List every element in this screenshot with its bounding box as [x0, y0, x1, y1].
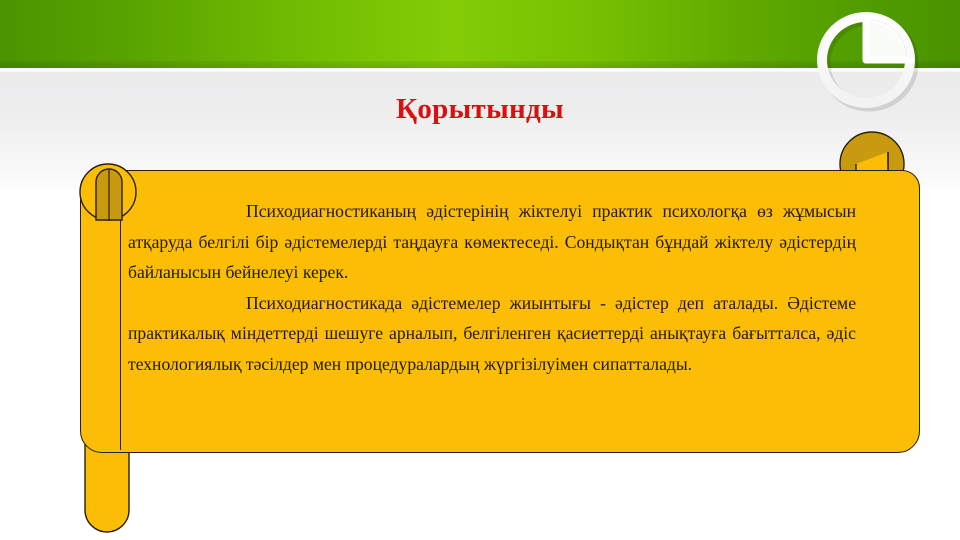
slide-title: Қорытынды: [0, 92, 960, 126]
presentation-slide: Қорытынды: [0, 0, 960, 540]
scroll-text-content: Психодиагностиканың әдістерінің жіктелуі…: [128, 196, 856, 379]
paragraph-2: Психодиагностикада әдістемелер жиынтығы …: [128, 288, 856, 380]
paragraph-1: Психодиагностиканың әдістерінің жіктелуі…: [128, 196, 856, 288]
